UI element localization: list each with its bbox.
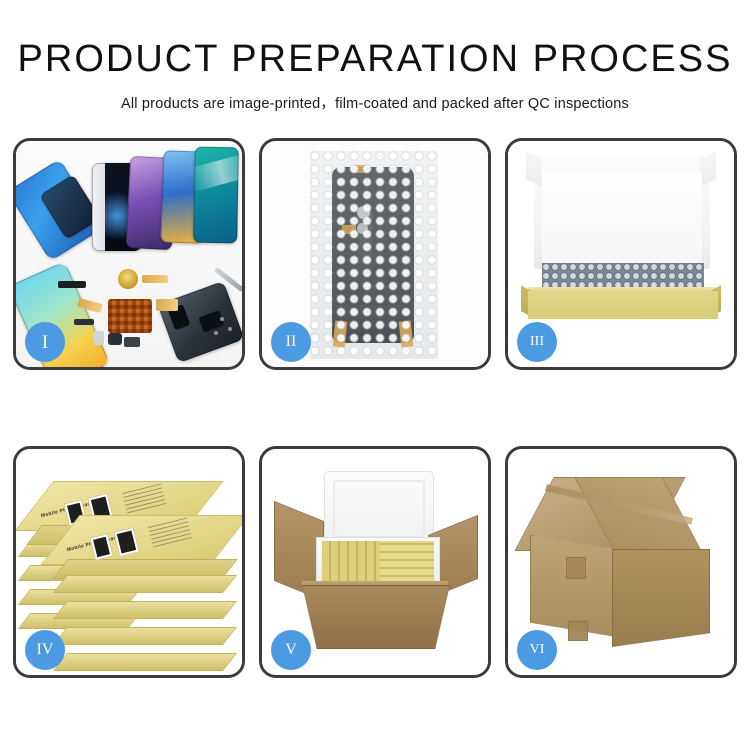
carton-tape-top — [566, 557, 586, 579]
step-panel-2: II — [259, 138, 491, 370]
foam-liner — [542, 173, 702, 265]
step-badge-2: II — [271, 322, 311, 362]
header: PRODUCT PREPARATION PROCESS All products… — [0, 0, 750, 113]
connector-bar-part — [58, 281, 86, 288]
step-panel-4: Mobile Phone Spare Parts Mobile Phone Sp… — [13, 446, 245, 678]
step-badge-6: VI — [517, 630, 557, 670]
step-badge-4: IV — [25, 630, 65, 670]
carton-tape-bottom — [568, 621, 588, 641]
step-badge-3: III — [517, 322, 557, 362]
phone-teal — [193, 147, 239, 244]
stack-slab-6 — [53, 601, 237, 619]
screw-icon-3 — [214, 331, 218, 335]
notch-icon — [109, 165, 126, 170]
screw-icon-2 — [228, 327, 232, 331]
speaker-coil-part — [118, 269, 138, 289]
step-panel-6: VI — [505, 446, 737, 678]
step-panel-1: I — [13, 138, 245, 370]
step-badge-5: V — [271, 630, 311, 670]
chip-grid-part — [108, 299, 152, 333]
box-lid-flap-left — [526, 152, 542, 186]
speaker-part — [108, 333, 122, 345]
carton-body — [302, 585, 450, 649]
small-chip-part — [74, 319, 94, 325]
stack-slab-8 — [53, 653, 237, 671]
screen-image-icon — [117, 530, 136, 553]
screw-icon-1 — [220, 317, 224, 321]
screen-image-icon — [93, 537, 110, 558]
product-preparation-infographic: PRODUCT PREPARATION PROCESS All products… — [0, 0, 750, 750]
box-front-kraft — [528, 291, 718, 319]
battery-bay-icon — [198, 310, 224, 333]
stack-slab-7 — [53, 627, 237, 645]
page-subtitle: All products are image-printed，film-coat… — [0, 92, 750, 113]
vibrator-part — [124, 337, 140, 347]
steps-grid: I II — [13, 138, 737, 678]
step-panel-5: V — [259, 446, 491, 678]
sim-tray-part — [94, 331, 104, 345]
box-lid-flap-right — [700, 152, 716, 186]
flex-cable-part-3 — [156, 299, 178, 311]
carton-right-face — [612, 549, 710, 647]
stack-slab-5 — [53, 575, 237, 593]
flex-cable-part-1 — [142, 275, 168, 283]
styrofoam-lid — [324, 471, 434, 547]
phone-back-housing — [158, 281, 242, 363]
page-title: PRODUCT PREPARATION PROCESS — [0, 40, 750, 78]
step-badge-1: I — [25, 322, 65, 362]
bubble-wrap-bag — [310, 151, 438, 359]
yellow-boxes-row-2 — [380, 541, 434, 583]
bubble-texture — [310, 151, 438, 359]
step-panel-3: III — [505, 138, 737, 370]
